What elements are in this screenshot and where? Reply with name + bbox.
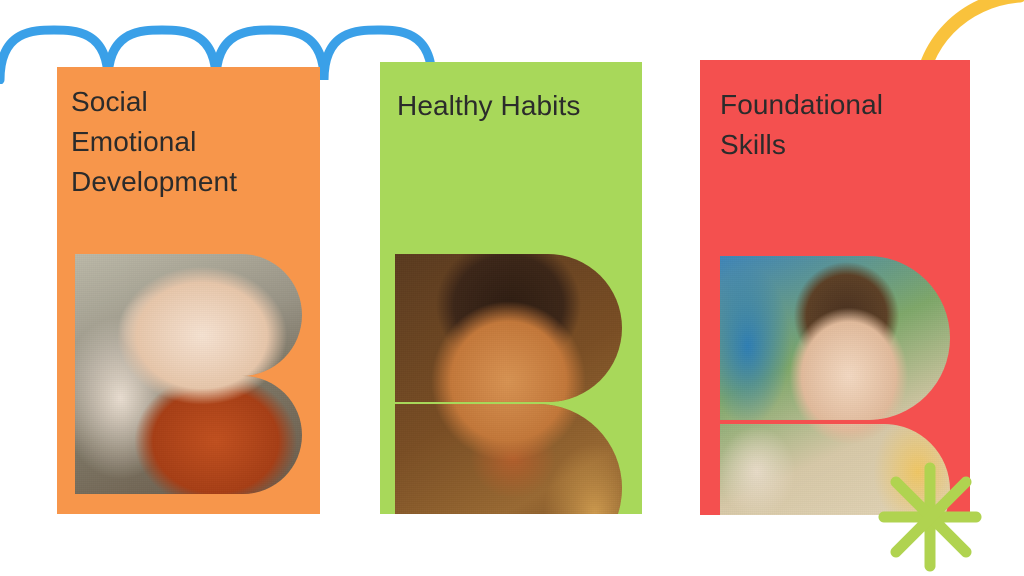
card-title: Foundational Skills	[720, 85, 970, 165]
card-title: Healthy Habits	[397, 86, 637, 126]
photo-toddler-smiling-in-playroom	[720, 256, 950, 515]
card-social-emotional-development[interactable]: Social Emotional Development	[57, 67, 320, 514]
slide-canvas: Social Emotional Development Healthy Hab…	[0, 0, 1024, 576]
card-healthy-habits[interactable]: Healthy Habits	[380, 62, 642, 514]
photo-smiling-blonde-girl-in-orange-sweater	[75, 254, 302, 494]
photo-baby-face-close-up	[395, 254, 622, 514]
card-foundational-skills[interactable]: Foundational Skills	[700, 60, 970, 515]
card-title: Social Emotional Development	[71, 82, 311, 201]
